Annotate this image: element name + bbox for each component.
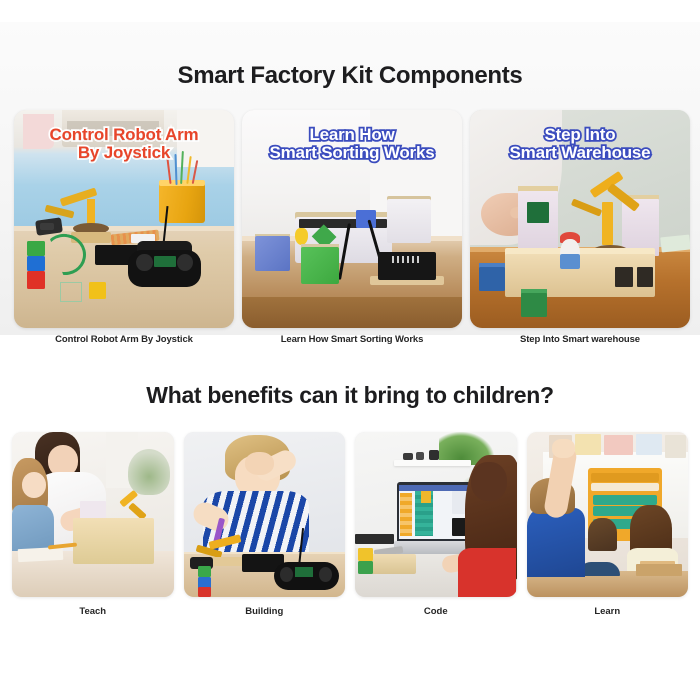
benefits-title: What benefits can it bring to children? xyxy=(0,382,700,409)
overlay-line-2: Smart Sorting Works xyxy=(246,144,458,162)
benefit-captions-row: Teach Building Code Learn xyxy=(12,606,688,617)
kit-card-sorting-overlay: Learn How Smart Sorting Works xyxy=(246,126,458,163)
page-title: Smart Factory Kit Components xyxy=(0,62,700,90)
benefit-caption-learn: Learn xyxy=(527,606,689,617)
overlay-line-2: By Joystick xyxy=(18,144,230,162)
benefit-card-code-image xyxy=(355,432,517,597)
benefit-card-teach-image xyxy=(12,432,174,597)
kit-card-warehouse[interactable]: Step Into Smart Warehouse xyxy=(470,110,690,328)
kit-card-joystick-overlay: Control Robot Arm By Joystick xyxy=(18,126,230,163)
benefit-caption-teach: Teach xyxy=(12,606,174,617)
benefit-card-building-image xyxy=(184,432,346,597)
benefit-card-learn[interactable] xyxy=(527,432,689,597)
page-root: Smart Factory Kit Components xyxy=(0,0,700,700)
overlay-line-1: Control Robot Arm xyxy=(18,126,230,144)
kit-captions-row: Control Robot Arm By Joystick Learn How … xyxy=(14,334,690,345)
benefit-cards-row xyxy=(12,432,688,597)
benefit-caption-code: Code xyxy=(355,606,517,617)
benefit-card-learn-image xyxy=(527,432,689,597)
benefit-card-teach[interactable] xyxy=(12,432,174,597)
kit-card-sorting[interactable]: Learn How Smart Sorting Works xyxy=(242,110,462,328)
kit-caption-sorting: Learn How Smart Sorting Works xyxy=(242,334,462,345)
overlay-line-2: Smart Warehouse xyxy=(474,144,686,162)
kit-caption-warehouse: Step Into Smart warehouse xyxy=(470,334,690,345)
benefit-caption-building: Building xyxy=(184,606,346,617)
overlay-line-1: Step Into xyxy=(474,126,686,144)
benefit-card-code[interactable] xyxy=(355,432,517,597)
kit-card-warehouse-overlay: Step Into Smart Warehouse xyxy=(474,126,686,163)
kit-caption-joystick: Control Robot Arm By Joystick xyxy=(14,334,234,345)
components-section: Smart Factory Kit Components xyxy=(0,22,700,335)
overlay-line-1: Learn How xyxy=(246,126,458,144)
benefit-card-building[interactable] xyxy=(184,432,346,597)
kit-cards-row: Control Robot Arm By Joystick xyxy=(14,110,690,328)
kit-card-joystick[interactable]: Control Robot Arm By Joystick xyxy=(14,110,234,328)
